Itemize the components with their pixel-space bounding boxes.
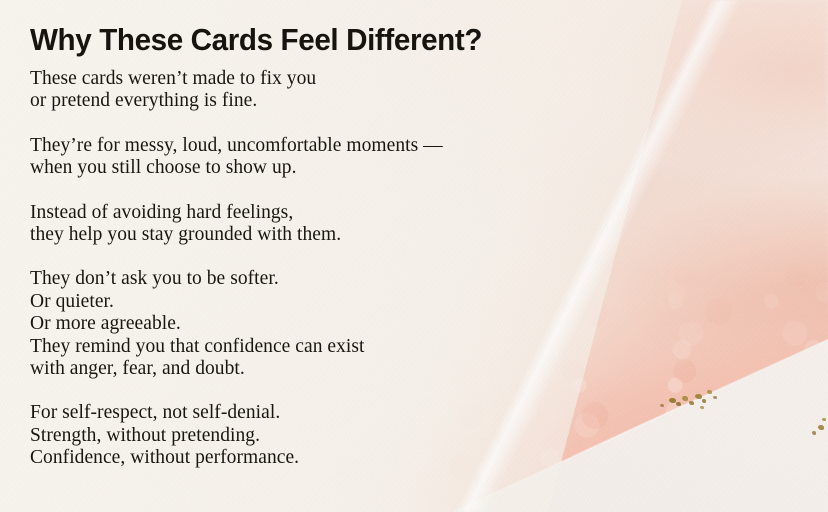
page-title-text: Why These Cards Feel Different xyxy=(30,22,464,57)
text-line: For self-respect, not self-denial. xyxy=(30,402,570,424)
paragraph-4: They don’t ask you to be softer. Or quie… xyxy=(30,268,570,380)
text-line: when you still choose to show up. xyxy=(30,157,570,179)
text-line: They don’t ask you to be softer. xyxy=(30,268,570,290)
page-title-question-mark: ? xyxy=(464,22,482,57)
page-title: Why These Cards Feel Different? xyxy=(30,0,546,60)
text-content: Why These Cards Feel Different? These ca… xyxy=(30,0,570,470)
text-line: Strength, without pretending. xyxy=(30,425,570,447)
text-line: Or more agreeable. xyxy=(30,313,570,335)
paragraph-2: They’re for messy, loud, uncomfortable m… xyxy=(30,135,570,180)
text-line: These cards weren’t made to fix you xyxy=(30,68,570,90)
body-copy: These cards weren’t made to fix you or p… xyxy=(30,60,570,470)
text-line: They’re for messy, loud, uncomfortable m… xyxy=(30,135,570,157)
text-line: or pretend everything is fine. xyxy=(30,90,570,112)
text-line: Confidence, without performance. xyxy=(30,447,570,469)
paragraph-5: For self-respect, not self-denial. Stren… xyxy=(30,402,570,469)
text-line: They remind you that confidence can exis… xyxy=(30,336,570,358)
text-line: Instead of avoiding hard feelings, xyxy=(30,202,570,224)
document-canvas: Why These Cards Feel Different? These ca… xyxy=(0,0,828,512)
text-line: with anger, fear, and doubt. xyxy=(30,358,570,380)
text-line: they help you stay grounded with them. xyxy=(30,224,570,246)
text-line: Or quieter. xyxy=(30,291,570,313)
paragraph-1: These cards weren’t made to fix you or p… xyxy=(30,68,570,113)
paragraph-3: Instead of avoiding hard feelings, they … xyxy=(30,202,570,247)
